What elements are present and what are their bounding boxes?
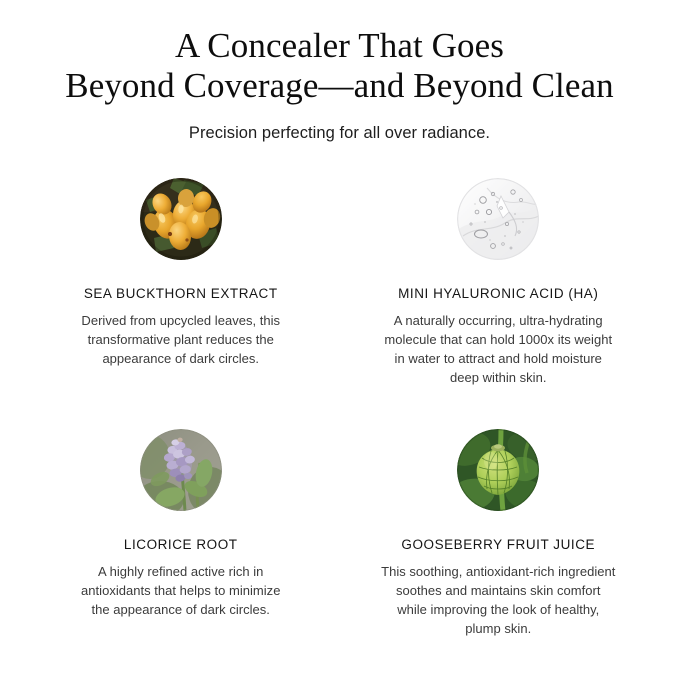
desc-line: molecule that can hold 1000x its weight (384, 330, 612, 349)
ingredient-title: MINI HYALURONIC ACID (HA) (398, 286, 598, 302)
desc-line: A naturally occurring, ultra-hydrating (384, 311, 612, 330)
desc-line: the appearance of dark circles. (81, 600, 280, 619)
ingredient-grid: SEA BUCKTHORN EXTRACT Derived from upcyc… (0, 178, 679, 638)
ingredient-card-sea-buckthorn: SEA BUCKTHORN EXTRACT Derived from upcyc… (22, 178, 340, 387)
desc-line: A highly refined active rich in (81, 562, 280, 581)
ingredient-description: A naturally occurring, ultra-hydrating m… (384, 311, 612, 387)
ingredient-card-gooseberry: GOOSEBERRY FRUIT JUICE This soothing, an… (340, 429, 658, 638)
ingredient-card-hyaluronic-acid: MINI HYALURONIC ACID (HA) A naturally oc… (340, 178, 658, 387)
desc-line: while improving the look of healthy, (381, 600, 615, 619)
licorice-root-flower-photo (140, 429, 222, 511)
desc-line: transformative plant reduces the (81, 330, 280, 349)
desc-line: soothes and maintains skin comfort (381, 581, 615, 600)
desc-line: appearance of dark circles. (81, 349, 280, 368)
sea-buckthorn-berries-photo (140, 178, 222, 260)
headline-line-2: Beyond Coverage—and Beyond Clean (18, 66, 661, 106)
ingredient-card-licorice-root: LICORICE ROOT A highly refined active ri… (22, 429, 340, 638)
desc-line: antioxidants that helps to minimize (81, 581, 280, 600)
ingredient-description: A highly refined active rich in antioxid… (81, 562, 280, 619)
desc-line: in water to attract and hold moisture (384, 349, 612, 368)
desc-line: deep within skin. (384, 368, 612, 387)
hyaluronic-acid-gel-texture-photo (457, 178, 539, 260)
ingredient-description: Derived from upcycled leaves, this trans… (81, 311, 280, 368)
page-header: A Concealer That Goes Beyond Coverage—an… (0, 0, 679, 144)
headline-line-1: A Concealer That Goes (18, 26, 661, 66)
ingredient-title: LICORICE ROOT (124, 537, 238, 553)
ingredient-benefits-page: A Concealer That Goes Beyond Coverage—an… (0, 0, 679, 679)
gooseberry-fruit-husk-photo (457, 429, 539, 511)
page-subtitle: Precision perfecting for all over radian… (0, 122, 679, 144)
page-title: A Concealer That Goes Beyond Coverage—an… (0, 26, 679, 106)
ingredient-title: GOOSEBERRY FRUIT JUICE (401, 537, 595, 553)
desc-line: This soothing, antioxidant-rich ingredie… (381, 562, 615, 581)
desc-line: Derived from upcycled leaves, this (81, 311, 280, 330)
ingredient-title: SEA BUCKTHORN EXTRACT (84, 286, 278, 302)
desc-line: plump skin. (381, 619, 615, 638)
ingredient-description: This soothing, antioxidant-rich ingredie… (381, 562, 615, 638)
